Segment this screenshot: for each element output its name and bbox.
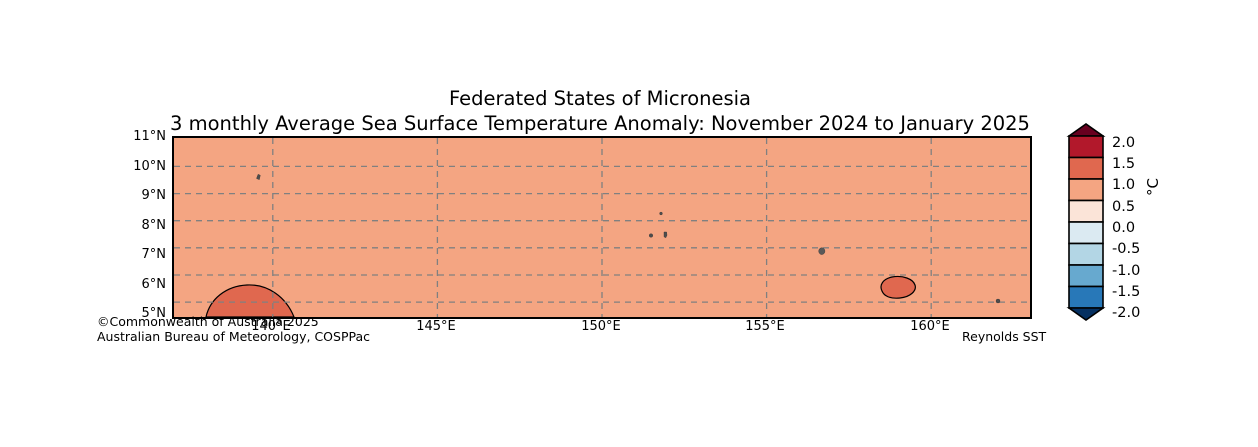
colorbar-tick-label: -2.0	[1112, 306, 1140, 321]
colorbar-tick-label: 1.5	[1112, 157, 1135, 172]
title-line-1: Federated States of Micronesia	[0, 86, 1200, 111]
colorbar-under-arrow	[1069, 308, 1103, 320]
copyright-text: ©Commonwealth of Australia 2025	[97, 314, 319, 329]
colorbar-band-1p0-1p5	[1069, 158, 1103, 180]
colorbar-tick-label: 0.0	[1112, 221, 1135, 236]
y-tick-label: 6°N	[0, 278, 166, 291]
colorbar-band-0p5-1p0	[1069, 179, 1103, 201]
y-tick-label: 8°N	[0, 219, 166, 232]
title-line-2: 3 monthly Average Sea Surface Temperatur…	[0, 111, 1200, 136]
colorbar-over-arrow	[1069, 124, 1103, 136]
sst-anomaly-raster	[174, 138, 1030, 317]
x-tick-label: 155°E	[720, 320, 810, 333]
colorbar-tick-label: -1.5	[1112, 285, 1140, 300]
y-tick-label: 9°N	[0, 189, 166, 202]
y-tick-label: 10°N	[0, 160, 166, 173]
colorbar-tick-label: -1.0	[1112, 264, 1140, 279]
colorbar-band-m0p5-0p0	[1069, 222, 1103, 244]
colorbar-unit-label: °C	[1146, 178, 1161, 196]
y-tick-label: 11°N	[0, 130, 166, 143]
island-kosrae	[996, 299, 1000, 303]
colorbar-tick-label: 2.0	[1112, 136, 1135, 151]
y-tick-label: 7°N	[0, 248, 166, 261]
island-chuuk-north	[660, 212, 663, 215]
colorbar-band-0p0-0p5	[1069, 201, 1103, 223]
colorbar-tick-label: 0.5	[1112, 200, 1135, 215]
map-plot-area	[172, 136, 1032, 319]
colorbar-tick-label: 1.0	[1112, 178, 1135, 193]
x-tick-label: 150°E	[556, 320, 646, 333]
sst-anomaly-figure: Federated States of Micronesia 3 monthly…	[0, 0, 1258, 447]
colorbar-swatches	[1060, 123, 1112, 321]
chart-title: Federated States of Micronesia 3 monthly…	[0, 86, 1200, 136]
colorbar-band-1p5-2p0	[1069, 136, 1103, 158]
warm-core-pohnpei	[881, 276, 915, 298]
x-tick-label: 145°E	[391, 320, 481, 333]
agency-text: Australian Bureau of Meteorology, COSPPa…	[97, 329, 370, 344]
colorbar-tick-label: -0.5	[1112, 242, 1140, 257]
colorbar	[1069, 136, 1103, 308]
colorbar-band-m1p0-m0p5	[1069, 244, 1103, 266]
colorbar-band-m2p0-m1p5	[1069, 287, 1103, 309]
dataset-credit: Reynolds SST	[962, 329, 1046, 344]
colorbar-band-m1p5-m1p0	[1069, 265, 1103, 287]
island-chuuk-west	[649, 234, 653, 238]
island-pohnpei	[819, 248, 825, 255]
